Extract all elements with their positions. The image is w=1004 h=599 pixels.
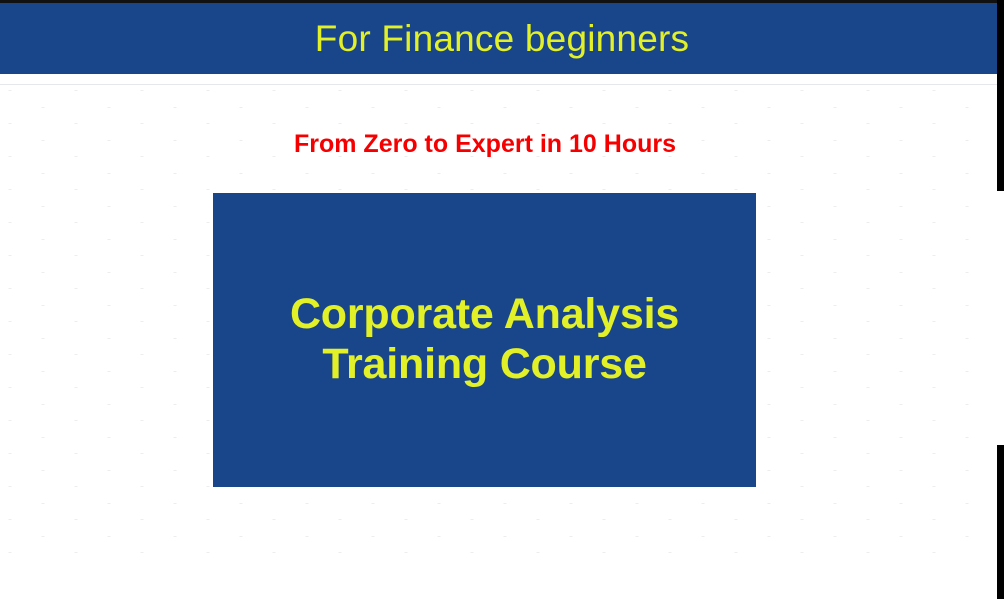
header-gap <box>0 74 1004 84</box>
course-title-card: Corporate Analysis Training Course <box>213 193 756 487</box>
slide-root: For Finance beginners From Zero to Exper… <box>0 0 1004 599</box>
course-title-text: Corporate Analysis Training Course <box>290 290 679 390</box>
bottom-white-strip <box>0 566 1004 599</box>
vertical-scrollbar-thumb-upper[interactable] <box>997 0 1004 191</box>
course-title-line-2: Training Course <box>290 340 679 390</box>
header-title: For Finance beginners <box>315 20 689 57</box>
subtitle-tagline: From Zero to Expert in 10 Hours <box>0 132 970 157</box>
course-title-line-1: Corporate Analysis <box>290 290 679 340</box>
dotted-content-canvas: From Zero to Expert in 10 Hours Corporat… <box>0 85 1004 566</box>
vertical-scrollbar-track[interactable] <box>997 0 1004 599</box>
vertical-scrollbar-thumb-lower[interactable] <box>997 445 1004 599</box>
header-banner: For Finance beginners <box>0 3 1004 74</box>
